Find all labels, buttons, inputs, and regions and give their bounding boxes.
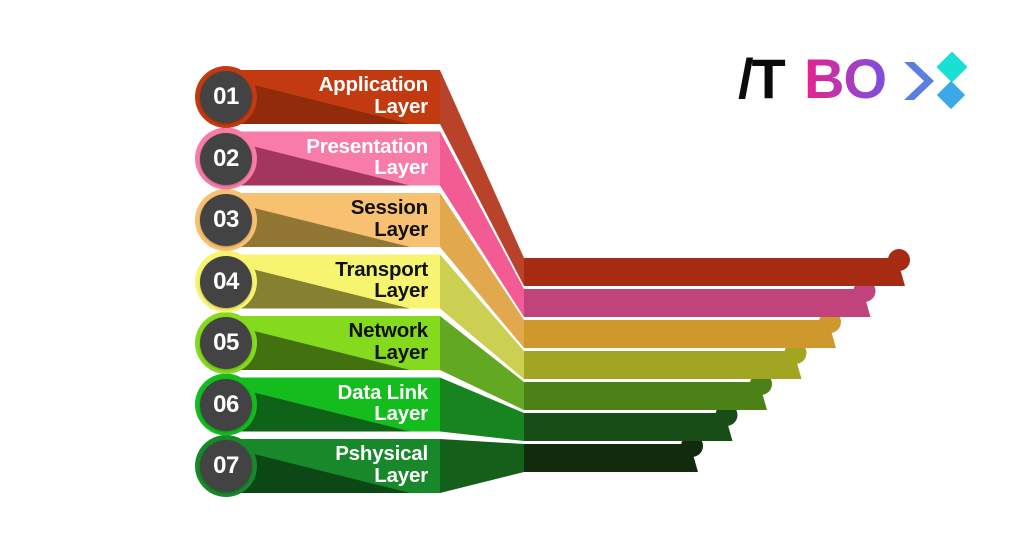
layer-value-bar xyxy=(524,444,698,472)
layer-number-badge-03[interactable]: 03 xyxy=(200,194,252,246)
layer-label-03: Session Layer xyxy=(266,197,428,240)
layer-end-dot xyxy=(888,249,910,271)
diamond-bottom-icon xyxy=(937,81,965,109)
layer-connector-band xyxy=(440,439,524,493)
layer-number-badge-05[interactable]: 05 xyxy=(200,317,252,369)
layer-number-badge-01[interactable]: 01 xyxy=(200,71,252,123)
chevron-right-icon xyxy=(904,62,934,100)
layer-label-06: Data Link Layer xyxy=(266,382,428,425)
brand-logo[interactable]: /T BO xyxy=(738,50,978,112)
layer-number-badge-02[interactable]: 02 xyxy=(200,133,252,185)
logo-box-text: BO xyxy=(804,50,886,110)
layer-label-07: Pshysical Layer xyxy=(266,443,428,486)
logo-it-text: /T xyxy=(738,50,786,110)
layer-label-02: Presentation Layer xyxy=(266,136,428,179)
infographic-canvas: 01Application Layer02Presentation Layer0… xyxy=(0,0,1024,546)
layer-value-bar xyxy=(524,258,905,286)
layer-value-bar xyxy=(524,351,802,379)
layer-label-01: Application Layer xyxy=(266,74,428,117)
layer-number-badge-06[interactable]: 06 xyxy=(200,379,252,431)
layer-number-badge-04[interactable]: 04 xyxy=(200,256,252,308)
layer-label-05: Network Layer xyxy=(266,320,428,363)
layer-value-bar xyxy=(524,320,836,348)
layer-value-bar xyxy=(524,413,733,441)
layer-value-bar xyxy=(524,289,871,317)
layer-label-04: Transport Layer xyxy=(266,259,428,302)
layer-value-bar xyxy=(524,382,767,410)
layer-number-badge-07[interactable]: 07 xyxy=(200,440,252,492)
diamond-top-icon xyxy=(936,51,967,82)
